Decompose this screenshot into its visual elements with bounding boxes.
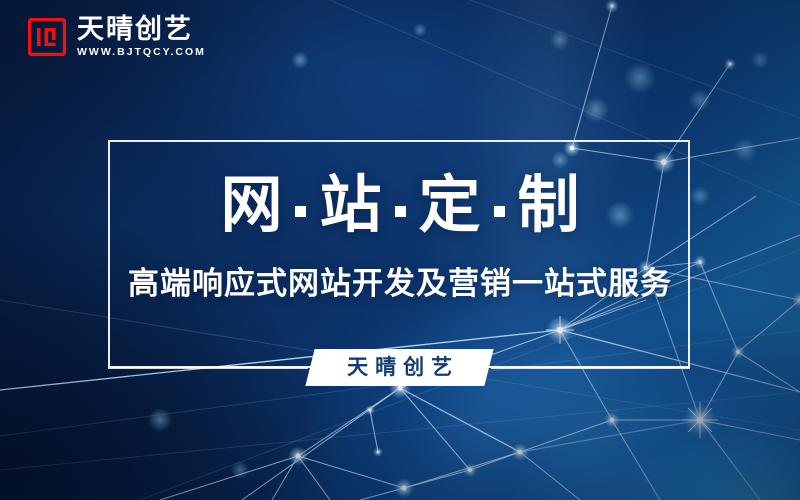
hero-badge-row: 天晴创艺 — [108, 348, 690, 388]
headline-char: 网 — [220, 174, 282, 236]
badge-rule-right — [491, 367, 691, 369]
headline-char: 制 — [518, 174, 580, 236]
hero-badge-label: 天晴创艺 — [340, 356, 459, 378]
brand-logo-text: 天晴创艺 WWW.BJTQCY.COM — [77, 16, 206, 58]
hero-subtitle: 高端响应式网站开发及营销一站式服务 — [0, 266, 800, 303]
banner-canvas: 天晴创艺 WWW.BJTQCY.COM 网 站 定 制 高端响应式网站开发及营销… — [0, 0, 800, 500]
brand-website: WWW.BJTQCY.COM — [77, 47, 206, 58]
headline-separator-square-icon — [395, 206, 406, 217]
hero-headline: 网 站 定 制 — [0, 174, 800, 236]
brand-logo[interactable]: 天晴创艺 WWW.BJTQCY.COM — [28, 16, 206, 58]
tianqing-cube-logo-icon — [28, 18, 66, 56]
brand-name: 天晴创艺 — [77, 16, 206, 44]
badge-rule-left — [108, 367, 308, 369]
headline-separator-square-icon — [494, 206, 505, 217]
headline-char: 站 — [319, 174, 381, 236]
headline-char: 定 — [419, 174, 481, 236]
hero-badge: 天晴创艺 — [305, 349, 493, 386]
headline-separator-square-icon — [295, 206, 306, 217]
